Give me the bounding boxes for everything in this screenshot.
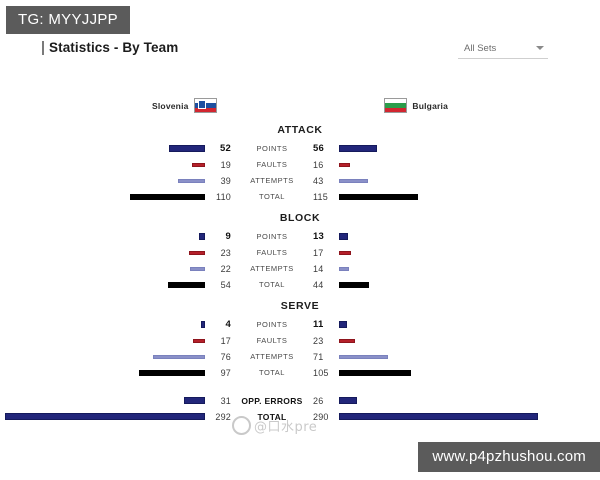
corner-watermark: www.p4pzhushou.com xyxy=(418,442,600,472)
bar-cell-right xyxy=(339,317,544,332)
bar-cell-right xyxy=(339,173,544,188)
bulgaria-flag-icon xyxy=(384,98,407,113)
bar-left xyxy=(192,163,205,167)
bar-right xyxy=(339,282,369,288)
stat-row: 97TOTAL105 xyxy=(0,365,600,380)
value-right: 13 xyxy=(308,231,339,242)
tg-tag-banner: TG: MYYJJPP xyxy=(6,6,130,34)
value-left: 97 xyxy=(205,368,236,378)
bar-left xyxy=(199,233,205,240)
stat-row: 52POINTS56 xyxy=(0,141,600,156)
bar-right xyxy=(339,179,368,183)
bar-right xyxy=(339,413,538,420)
row-label: TOTAL xyxy=(236,412,308,422)
row-label: ATTEMPTS xyxy=(236,176,308,185)
value-right: 16 xyxy=(308,160,339,170)
section-title: ATTACK xyxy=(0,124,600,136)
bar-left xyxy=(5,413,205,420)
bar-left xyxy=(184,397,205,404)
stat-row: 292TOTAL290 xyxy=(0,409,600,424)
value-left: 39 xyxy=(205,176,236,186)
bar-left xyxy=(201,321,205,328)
bar-cell-left xyxy=(0,261,205,276)
row-label: POINTS xyxy=(236,320,308,329)
value-right: 115 xyxy=(308,192,339,202)
bar-cell-left xyxy=(0,393,205,408)
bar-cell-right xyxy=(339,141,544,156)
team-right-name: Bulgaria xyxy=(412,101,448,111)
bar-right xyxy=(339,339,355,343)
bar-cell-right xyxy=(339,409,544,424)
value-right: 290 xyxy=(308,412,339,422)
bar-right xyxy=(339,267,349,271)
stat-row: 22ATTEMPTS14 xyxy=(0,261,600,276)
row-label: FAULTS xyxy=(236,160,308,169)
bar-cell-left xyxy=(0,317,205,332)
bar-left xyxy=(153,355,205,359)
stat-row: 54TOTAL44 xyxy=(0,277,600,292)
stat-row: 76ATTEMPTS71 xyxy=(0,349,600,364)
bar-left xyxy=(190,267,205,271)
value-left: 22 xyxy=(205,264,236,274)
bar-cell-left xyxy=(0,245,205,260)
team-left: Slovenia xyxy=(152,98,217,113)
bar-cell-right xyxy=(339,245,544,260)
value-left: 292 xyxy=(205,412,236,422)
page-title-wrap: Statistics - By Team xyxy=(42,40,178,55)
bar-cell-right xyxy=(339,349,544,364)
bar-left xyxy=(178,179,205,183)
section-title: SERVE xyxy=(0,300,600,312)
bar-cell-left xyxy=(0,349,205,364)
page-title: Statistics - By Team xyxy=(49,40,178,55)
value-left: 31 xyxy=(205,396,236,406)
row-label: OPP. ERRORS xyxy=(236,396,308,406)
value-right: 26 xyxy=(308,396,339,406)
value-right: 17 xyxy=(308,248,339,258)
bar-cell-left xyxy=(0,173,205,188)
bar-left xyxy=(193,339,205,343)
value-right: 43 xyxy=(308,176,339,186)
stat-row: 9POINTS13 xyxy=(0,229,600,244)
team-left-name: Slovenia xyxy=(152,101,189,111)
value-left: 76 xyxy=(205,352,236,362)
bar-right xyxy=(339,251,351,255)
value-left: 23 xyxy=(205,248,236,258)
bar-left xyxy=(189,251,205,255)
value-right: 11 xyxy=(308,319,339,330)
stats-section: ATTACK52POINTS5619FAULTS1639ATTEMPTS4311… xyxy=(0,124,600,204)
bar-right xyxy=(339,321,347,328)
bar-right xyxy=(339,370,411,376)
value-left: 54 xyxy=(205,280,236,290)
bar-left xyxy=(169,145,205,152)
bar-cell-left xyxy=(0,409,205,424)
bar-cell-right xyxy=(339,333,544,348)
bar-cell-left xyxy=(0,189,205,204)
bar-cell-right xyxy=(339,189,544,204)
stats-section: BLOCK9POINTS1323FAULTS1722ATTEMPTS1454TO… xyxy=(0,212,600,292)
stat-row: 17FAULTS23 xyxy=(0,333,600,348)
value-left: 4 xyxy=(205,319,236,330)
teams-legend: Slovenia Bulgaria xyxy=(0,98,600,116)
stat-row: 19FAULTS16 xyxy=(0,157,600,172)
stats-sections: ATTACK52POINTS5619FAULTS1639ATTEMPTS4311… xyxy=(0,124,600,432)
bar-cell-right xyxy=(339,393,544,408)
bar-right xyxy=(339,163,350,167)
bar-right xyxy=(339,397,357,404)
title-tick-icon xyxy=(42,41,44,55)
section-title: BLOCK xyxy=(0,212,600,224)
statistics-page: TG: MYYJJPP Statistics - By Team All Set… xyxy=(0,0,600,480)
bar-right xyxy=(339,233,348,240)
bar-right xyxy=(339,145,377,152)
row-label: POINTS xyxy=(236,232,308,241)
bar-right xyxy=(339,194,418,200)
value-left: 19 xyxy=(205,160,236,170)
value-right: 23 xyxy=(308,336,339,346)
bar-cell-right xyxy=(339,229,544,244)
value-right: 14 xyxy=(308,264,339,274)
bar-cell-left xyxy=(0,229,205,244)
stat-row: 23FAULTS17 xyxy=(0,245,600,260)
stats-section: 31OPP. ERRORS26292TOTAL290 xyxy=(0,388,600,424)
row-label: FAULTS xyxy=(236,248,308,257)
value-left: 110 xyxy=(205,192,236,202)
stat-row: 39ATTEMPTS43 xyxy=(0,173,600,188)
row-label: TOTAL xyxy=(236,368,308,377)
bar-cell-left xyxy=(0,365,205,380)
slovenia-flag-icon xyxy=(194,98,217,113)
bar-cell-right xyxy=(339,365,544,380)
set-filter-value: All Sets xyxy=(464,43,496,54)
value-right: 44 xyxy=(308,280,339,290)
bar-left xyxy=(130,194,205,200)
row-label: FAULTS xyxy=(236,336,308,345)
row-label: ATTEMPTS xyxy=(236,264,308,273)
row-label: POINTS xyxy=(236,144,308,153)
value-left: 9 xyxy=(205,231,236,242)
team-right: Bulgaria xyxy=(384,98,448,113)
bar-cell-right xyxy=(339,157,544,172)
bar-cell-right xyxy=(339,277,544,292)
bar-right xyxy=(339,355,388,359)
page-header: Statistics - By Team All Sets xyxy=(0,38,600,66)
row-label: TOTAL xyxy=(236,192,308,201)
bar-cell-left xyxy=(0,141,205,156)
bar-left xyxy=(139,370,205,376)
bar-cell-left xyxy=(0,277,205,292)
value-right: 56 xyxy=(308,143,339,154)
value-left: 52 xyxy=(205,143,236,154)
bar-cell-right xyxy=(339,261,544,276)
stats-section: SERVE4POINTS1117FAULTS2376ATTEMPTS7197TO… xyxy=(0,300,600,380)
value-left: 17 xyxy=(205,336,236,346)
bar-cell-left xyxy=(0,333,205,348)
stat-row: 31OPP. ERRORS26 xyxy=(0,393,600,408)
value-right: 105 xyxy=(308,368,339,378)
value-right: 71 xyxy=(308,352,339,362)
stat-row: 4POINTS11 xyxy=(0,317,600,332)
row-label: ATTEMPTS xyxy=(236,352,308,361)
chevron-down-icon xyxy=(536,46,544,50)
row-label: TOTAL xyxy=(236,280,308,289)
bar-left xyxy=(168,282,205,288)
stat-row: 110TOTAL115 xyxy=(0,189,600,204)
set-filter-select[interactable]: All Sets xyxy=(458,38,548,59)
bar-cell-left xyxy=(0,157,205,172)
